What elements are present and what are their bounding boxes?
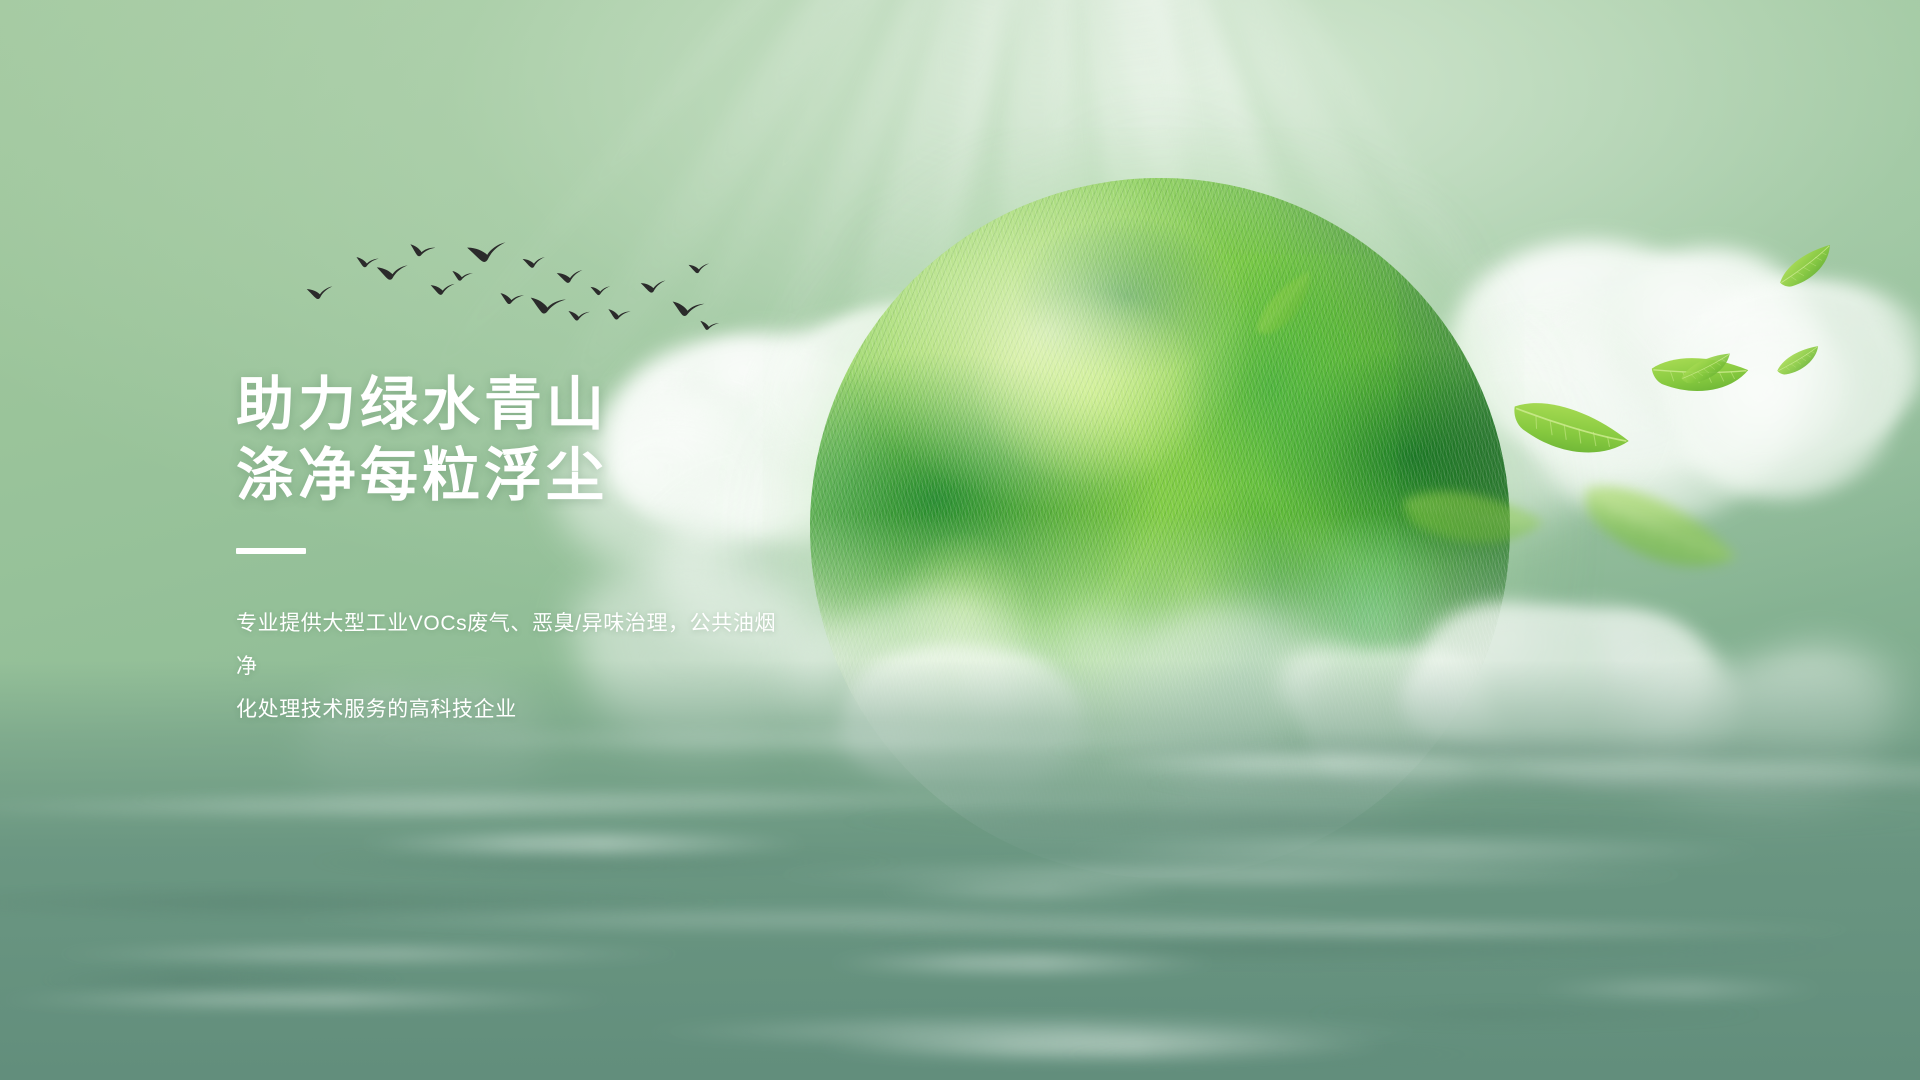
bird-icon: [640, 279, 668, 294]
water-ripple: [1296, 1007, 1777, 1021]
water-ripple: [825, 954, 1220, 972]
leaf-icon: [1772, 241, 1842, 294]
water-ripple: [875, 883, 1187, 898]
water-ripple: [44, 948, 695, 960]
water-ripple: [296, 855, 923, 869]
leaf-icon: [1772, 343, 1826, 380]
water-ripple: [0, 799, 902, 815]
water-ripple: [0, 994, 623, 1005]
bird-icon: [529, 296, 568, 316]
bird-icon: [408, 243, 436, 259]
bird-icon: [376, 264, 410, 282]
bird-icon: [568, 310, 591, 322]
water-ripple: [356, 834, 812, 854]
water-ripple: [808, 924, 1880, 935]
cloud-puff: [1674, 323, 1886, 498]
bird-icon: [522, 256, 547, 269]
water-ripple: [1529, 980, 1829, 998]
bird-icon: [499, 292, 525, 306]
subtitle-line-1: 专业提供大型工业VOCs废气、恶臭/异味治理，公共油烟净: [236, 612, 776, 678]
leaf-icon: [1565, 456, 1747, 609]
headline-line-2: 涤净每粒浮尘: [236, 441, 936, 512]
bird-icon: [556, 269, 585, 285]
bird-icon: [466, 240, 510, 265]
bird-icon: [699, 320, 720, 332]
bird-icon: [607, 308, 632, 322]
water-ripple: [1123, 774, 1920, 794]
bird-icon: [451, 270, 474, 283]
bird-icon: [430, 283, 456, 297]
water-ripple: [759, 866, 1705, 883]
subtitle: 专业提供大型工业VOCs废气、恶臭/异味治理，公共油烟净 化处理技术服务的高科技…: [236, 602, 796, 731]
bird-icon: [306, 285, 335, 301]
bird-icon: [671, 300, 706, 319]
water-ripple: [29, 971, 420, 989]
banner-copy: 助力绿水青山 涤净每粒浮尘 专业提供大型工业VOCs废气、恶臭/异味治理，公共油…: [236, 370, 936, 731]
cloud-puff: [1774, 327, 1918, 435]
headline-line-1: 助力绿水青山: [236, 370, 936, 441]
subtitle-line-2: 化处理技术服务的高科技企业: [236, 698, 517, 721]
bird-icon: [688, 262, 711, 274]
banner-stage: 助力绿水青山 涤净每粒浮尘 专业提供大型工业VOCs废气、恶臭/异味治理，公共油…: [0, 0, 1920, 1080]
divider-rule: [236, 548, 306, 554]
water-ripple: [0, 892, 768, 912]
water-ripple: [818, 812, 1920, 831]
cloud-puff: [1776, 374, 1884, 445]
water-ripple: [1054, 839, 1773, 862]
bird-icon: [590, 285, 612, 296]
